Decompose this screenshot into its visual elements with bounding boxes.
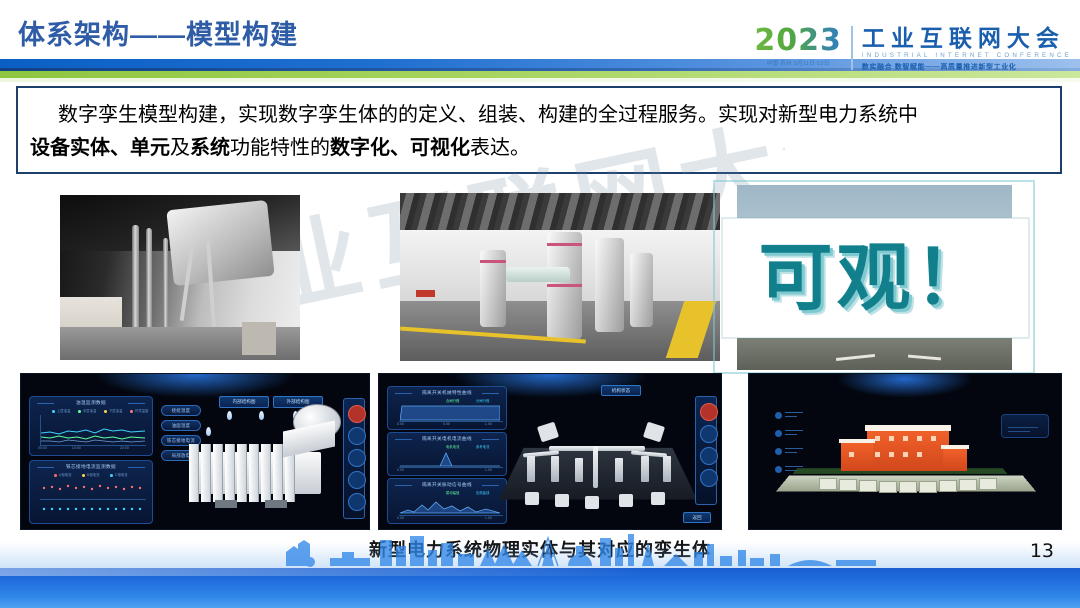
dash1-legend-1: 上层油温: [57, 408, 71, 413]
dash2-panel-motor-current: 隔离开关电机电流曲线 电机电流 参考电流 0.00 1.00: [387, 432, 507, 476]
dash1-fin-1: [189, 444, 199, 502]
dash1-legend-dot-3: [104, 410, 107, 413]
dash1-legend-2: 中层油温: [83, 408, 97, 413]
dash1-button-oil-temp[interactable]: 油面温度: [161, 420, 201, 431]
dash1-core-legend-3: C相电流: [115, 472, 128, 477]
dash2-insulator-2: [551, 456, 559, 482]
dash1-top-glow: [94, 373, 296, 398]
footer-band: [0, 568, 1080, 608]
skyline-decoration: [280, 532, 1040, 568]
dash1-rail-settings-icon[interactable]: [348, 471, 366, 489]
dash1-legend-dot-4: [130, 410, 133, 413]
dash3-menu-icon-1[interactable]: [775, 412, 782, 419]
dash1-rail-wave-icon[interactable]: [348, 449, 366, 467]
dash1-rail-alarm-icon[interactable]: [348, 405, 366, 423]
tower-icon: [542, 542, 554, 566]
summary-line-1: 数字孪生模型构建，实现数字孪生体的的定义、组装、构建的全过程服务。实现对新型电力…: [58, 99, 918, 129]
dash3-menu-label-1: [785, 412, 803, 413]
dash2-panel-mechanical: 隔离开关机械特性曲线 合闸行程 分闸行程 0.00 0.50 1.00: [387, 386, 507, 430]
dash3-wing-left-roof: [839, 439, 875, 443]
photo2-gis-column-3: [595, 238, 624, 332]
photo2-phase-ring-2: [547, 284, 582, 287]
dash3-window-4: [917, 436, 922, 441]
dash1-side-rail[interactable]: [343, 398, 365, 519]
header-rule-pale: [0, 78, 1080, 82]
dash2-motor-xtick-0: 0.00: [397, 468, 404, 472]
dash1-core-legend-dot-1: [54, 474, 57, 477]
photo2-phase-ring-1: [547, 243, 582, 246]
dash3-main-roof: [865, 425, 951, 431]
dash1-core-legend-dot-2: [82, 474, 85, 477]
dash2-insulator-6: [663, 456, 671, 482]
dash3-yard-cell-1: [819, 478, 837, 490]
bridge-icon: [788, 560, 832, 566]
dash3-window-9: [917, 452, 922, 457]
dash1-oil-temp-chart: [41, 417, 145, 445]
photo1-floor-box: [242, 322, 276, 355]
dash2-base-1: [525, 492, 539, 505]
dash3-yard-cell-6: [919, 481, 937, 493]
dash3-menu-sub-3: [785, 452, 797, 453]
dash3-yard-cell-3: [859, 480, 877, 492]
logo-year-block: 2023 中国·苏州 3月11日-12日: [754, 26, 851, 67]
photo-gis-indoor: [60, 195, 300, 360]
logo-date: 中国·苏州 3月11日-12日: [767, 59, 830, 67]
dash2-motor-xtick-last: 1.00: [485, 468, 492, 472]
dash1-transformer-base-2: [265, 500, 287, 508]
dash3-info-line-2: [1008, 431, 1030, 432]
dash3-yard-cell-5: [899, 481, 917, 493]
dash2-rail-close-icon[interactable]: [700, 425, 718, 443]
dash1-panel-core-title: 铁芯接地电流监测数据: [30, 464, 152, 470]
callout-text: 可观！: [759, 240, 993, 316]
photo2-busbar-tube: [506, 267, 570, 282]
dash3-menu-icon-4[interactable]: [775, 466, 782, 473]
dash3-menu-sub-1: [785, 416, 797, 417]
dash2-blade-left: [537, 422, 559, 443]
dash3-menu-icon-3[interactable]: [775, 448, 782, 455]
dash1-marker-2[interactable]: [259, 411, 264, 420]
dashboard-transformer-digital-twin[interactable]: 油温监测数据 上层油温 中层油温 下层油温 环境温度 00:00 10:00 2…: [20, 373, 370, 530]
dash3-wing-left: [841, 442, 873, 471]
dash1-rail-export-icon[interactable]: [348, 493, 366, 511]
dash2-vibration-chart: [400, 496, 500, 514]
dash2-vib-legend-1: 振动幅值: [446, 490, 460, 495]
summary-bold-1: 设备实体、单元: [30, 135, 170, 159]
dash3-info-line-1: [1008, 427, 1038, 428]
dash1-core-legend-dot-3: [110, 474, 113, 477]
dash3-window-10: [849, 452, 854, 457]
logo-name-cn: 工业互联网大会: [862, 26, 1072, 50]
dash2-rail-open-icon[interactable]: [700, 403, 718, 421]
dash3-wing-right-roof: [941, 445, 969, 449]
dash1-marker-1[interactable]: [227, 411, 232, 420]
dash1-button-winding-temp-label: 绕组温度: [162, 406, 200, 415]
dash2-tab-mechanism-status-label: 机构状态: [602, 386, 640, 395]
dash1-transformer-conservator: [283, 420, 335, 457]
dash2-panel-motor-title: 隔离开关电机电流曲线: [388, 436, 506, 442]
dash2-vib-xtick-0: 0.00: [397, 516, 404, 520]
dash1-legend-dot-1: [52, 410, 55, 413]
dash2-vib-legend-2: 包络曲线: [476, 490, 490, 495]
dash1-oil-xtick-mid: 10:00: [72, 446, 81, 450]
dash2-tab-mechanism-status[interactable]: 机构状态: [601, 385, 641, 396]
dash2-mech-xtick-last: 1.00: [485, 422, 492, 426]
dash3-yard-cell-9: [979, 478, 997, 490]
dash1-marker-4[interactable]: [206, 427, 211, 436]
dash3-window-6: [875, 452, 880, 457]
dash2-mech-legend-2: 分闸行程: [476, 398, 490, 403]
dash2-mech-legend-1: 合闸行程: [446, 398, 460, 403]
dash3-yard-cell-4: [879, 481, 897, 493]
dash2-rail-export-icon[interactable]: [700, 469, 718, 487]
dash3-menu-sub-2: [785, 434, 797, 435]
dash1-fin-3: [213, 444, 223, 502]
conference-logo: 2023 中国·苏州 3月11日-12日 工业互联网大会 INDUSTRIAL …: [754, 26, 1072, 76]
dash1-tab-internal-label: 内部结构图: [220, 397, 268, 407]
dash3-menu-label-3: [785, 448, 803, 449]
dash1-legend-4: 环境温度: [135, 408, 149, 413]
page-number: 13: [1030, 540, 1054, 562]
dash3-window-1: [875, 436, 880, 441]
dash3-top-glow: [836, 373, 973, 398]
dash1-rail-reset-icon[interactable]: [348, 427, 366, 445]
dash1-panel-oil-temp: 油温监测数据 上层油温 中层油温 下层油温 环境温度 00:00 10:00 2…: [29, 396, 153, 456]
logo-slogan: 数实融合 数智赋能——高质量推进新型工业化: [862, 62, 1072, 72]
dash2-motor-current-chart: [400, 450, 500, 467]
summary-plain-3: 表达。: [470, 135, 530, 159]
page-title: 体系架构——模型构建: [18, 13, 298, 52]
summary-text-box: 数字孪生模型构建，实现数字孪生体的的定义、组装、构建的全过程服务。实现对新型电力…: [16, 86, 1062, 174]
dash2-blade-right: [643, 422, 665, 443]
dash3-window-2: [889, 436, 894, 441]
dash1-fin-8: [273, 444, 283, 502]
dash1-core-legend-2: B相电流: [87, 472, 100, 477]
photo2-gis-column-4: [630, 253, 652, 327]
dash3-menu-label-2: [785, 430, 803, 431]
logo-name-block: 工业互联网大会 INDUSTRIAL INTERNET CONFERENCE 数…: [862, 26, 1072, 72]
callout-box: 可观！: [722, 218, 1029, 338]
summary-plain-1: 及: [170, 135, 190, 159]
photo-substation-hall: [400, 193, 720, 361]
dash2-base-5: [651, 492, 665, 505]
summary-line-2: 设备实体、单元及系统功能特性的数字化、可视化表达。: [30, 132, 530, 162]
dash2-insulator-5: [641, 456, 649, 482]
dash1-fin-4: [225, 444, 235, 502]
dash2-vib-xtick-last: 1.00: [485, 516, 492, 520]
dash3-info-panel: [1001, 414, 1049, 438]
logo-year: 2023: [754, 26, 842, 56]
summary-plain-2: 功能特性的: [230, 135, 330, 159]
dash1-button-winding-temp[interactable]: 绕组温度: [161, 405, 201, 416]
dash2-rail-reset-icon[interactable]: [700, 447, 718, 465]
dash3-menu-icon-2[interactable]: [775, 430, 782, 437]
dash1-fin-7: [261, 444, 271, 502]
dash2-insulator-4: [615, 458, 623, 482]
dash1-legend-dot-2: [78, 410, 81, 413]
dash2-motor-legend-1: 电机电流: [446, 444, 460, 449]
dash1-legend-3: 下层油温: [109, 408, 123, 413]
dash1-fin-6: [249, 444, 259, 502]
dash2-base-3: [585, 496, 599, 509]
dash1-panel-oil-temp-title: 油温监测数据: [30, 400, 152, 406]
dash2-side-rail[interactable]: [695, 396, 717, 505]
dash1-fin-2: [201, 444, 211, 502]
dash2-mech-xtick-mid: 0.50: [443, 422, 450, 426]
dash2-back-button-label: 返回: [684, 513, 710, 522]
dash1-transformer-base-1: [215, 500, 237, 508]
dash2-back-button[interactable]: 返回: [683, 512, 711, 523]
dash2-insulator-1: [527, 456, 535, 482]
dash3-wing-right: [943, 448, 967, 471]
dash3-window-3: [903, 436, 908, 441]
dash2-panel-mechanical-title: 隔离开关机械特性曲线: [388, 390, 506, 396]
photo2-roof-trusses: [400, 193, 720, 233]
logo-divider: [851, 26, 853, 70]
dash3-window-5: [931, 436, 936, 441]
logo-name-en: INDUSTRIAL INTERNET CONFERENCE: [862, 52, 1072, 59]
photo2-sign-red: [416, 290, 435, 297]
dash3-yard-cell-8: [959, 479, 977, 491]
dash1-core-secondary-chart: [41, 502, 145, 516]
dash1-core-xaxis: [40, 499, 146, 500]
valve-icon: [330, 552, 370, 566]
dash1-button-oil-temp-label: 油面温度: [162, 421, 200, 430]
dash1-oil-xaxis: [40, 445, 146, 446]
dash2-panel-vibration: 隔离开关振动信号曲线 振动幅值 包络曲线 0.00 1.00: [387, 478, 507, 524]
dash2-mechanical-chart: [400, 404, 500, 421]
dash1-oil-xtick-0: 00:00: [38, 446, 47, 450]
dash1-tab-internal[interactable]: 内部结构图: [219, 396, 269, 408]
summary-bold-3: 数字化、可视化: [330, 135, 470, 159]
photo2-phase-ring-3: [480, 260, 506, 263]
dash2-base-2: [555, 494, 569, 507]
dashboard-disconnector-digital-twin[interactable]: 隔离开关机械特性曲线 合闸行程 分闸行程 0.00 0.50 1.00 隔离开关…: [378, 373, 722, 530]
dash1-core-legend-1: A相电流: [59, 472, 72, 477]
dash3-window-7: [889, 452, 894, 457]
dash1-core-current-chart: [41, 480, 145, 496]
dash2-insulator-3: [575, 458, 583, 482]
dash1-oil-xtick-last: 22:00: [120, 446, 129, 450]
dash2-mech-xtick-0: 0.00: [397, 422, 404, 426]
dash2-motor-legend-2: 参考电流: [476, 444, 490, 449]
dash2-base-4: [619, 494, 633, 507]
dash2-center-column: [593, 446, 598, 488]
dash2-panel-vibration-title: 隔离开关振动信号曲线: [388, 482, 506, 488]
dash1-fin-5: [237, 444, 247, 502]
dash3-yard-cell-2: [839, 479, 857, 491]
slide-root: 体系架构——模型构建 2023 中国·苏州 3月11日-12日 工业互联网大会 …: [0, 0, 1080, 608]
dash3-yard-cell-7: [939, 480, 957, 492]
dash3-menu-label-4: [785, 466, 803, 467]
dash1-panel-core-current: 铁芯接地电流监测数据 A相电流 B相电流 C相电流: [29, 460, 153, 524]
dash3-window-8: [903, 452, 908, 457]
photo1-bushing-unit: [167, 200, 275, 286]
dashboard-substation-3d-scene[interactable]: [748, 373, 1062, 530]
summary-bold-2: 系统: [190, 135, 230, 159]
